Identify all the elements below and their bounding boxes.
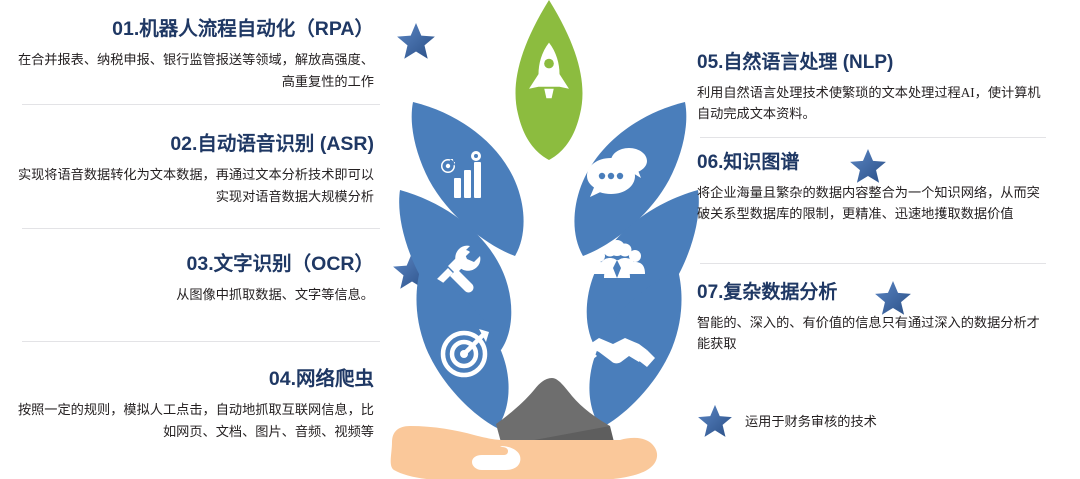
item-01-body: 在合并报表、纳税申报、银行监管报送等领域，解放高强度、高重复性的工作 bbox=[14, 49, 374, 92]
item-01-title: 机器人流程自动化（RPA） bbox=[139, 18, 374, 40]
item-02[interactable]: 02.自动语音识别 (ASR) 实现将语音数据转化为文本数据，再通过文本分析技术… bbox=[14, 133, 374, 207]
item-02-title: 自动语音识别 (ASR) bbox=[197, 133, 374, 155]
item-04[interactable]: 04.网络爬虫 按照一定的规则，模拟人工点击，自动地抓取互联网信息，比如网页、文… bbox=[14, 368, 374, 442]
item-04-body: 按照一定的规则，模拟人工点击，自动地抓取互联网信息，比如网页、文档、图片、音频、… bbox=[14, 399, 374, 442]
item-05-body: 利用自然语言处理技术使繁琐的文本处理过程AI，使计算机自动完成文本资料。 bbox=[697, 82, 1047, 125]
item-07-number: 07. bbox=[697, 282, 723, 303]
star-icon-06 bbox=[849, 148, 887, 184]
item-02-body: 实现将语音数据转化为文本数据，再通过文本分析技术即可以实现对语音数据大规模分析 bbox=[14, 164, 374, 207]
item-02-heading: 02.自动语音识别 (ASR) bbox=[14, 133, 374, 155]
item-04-heading: 04.网络爬虫 bbox=[14, 368, 374, 390]
item-06-number: 06. bbox=[697, 152, 723, 173]
tree-illustration bbox=[384, 0, 714, 479]
item-07-heading: 07.复杂数据分析 bbox=[697, 282, 1047, 304]
item-05-heading: 05.自然语言处理 (NLP) bbox=[697, 52, 1047, 74]
item-03-title: 文字识别（OCR） bbox=[214, 253, 374, 275]
item-06-body: 将企业海量且繁杂的数据内容整合为一个知识网络，从而突破关系型数据库的限制，更精准… bbox=[697, 182, 1047, 225]
item-03-body: 从图像中抓取数据、文字等信息。 bbox=[14, 284, 374, 305]
item-07-body: 智能的、深入的、有价值的信息只有通过深入的数据分析才能获取 bbox=[697, 312, 1047, 355]
divider-right-2 bbox=[700, 263, 1046, 264]
star-icon-legend bbox=[697, 404, 733, 438]
item-01[interactable]: 01.机器人流程自动化（RPA） 在合并报表、纳税申报、银行监管报送等领域，解放… bbox=[14, 18, 374, 92]
divider-left-3 bbox=[22, 341, 380, 342]
item-05[interactable]: 05.自然语言处理 (NLP) 利用自然语言处理技术使繁琐的文本处理过程AI，使… bbox=[697, 52, 1047, 125]
divider-left-2 bbox=[22, 228, 380, 229]
item-03-heading: 03.文字识别（OCR） bbox=[14, 253, 374, 275]
item-01-heading: 01.机器人流程自动化（RPA） bbox=[14, 18, 374, 40]
item-05-number: 05. bbox=[697, 52, 723, 73]
item-06-title: 知识图谱 bbox=[723, 152, 799, 173]
divider-left-1 bbox=[22, 104, 380, 105]
leaf-top-green bbox=[516, 0, 583, 160]
infographic-canvas: · · · · · · · · · · · · · · 01.机器人流程自动化（… bbox=[0, 0, 1080, 479]
item-02-number: 02. bbox=[170, 133, 197, 155]
item-03[interactable]: 03.文字识别（OCR） 从图像中抓取数据、文字等信息。 bbox=[14, 253, 374, 306]
item-03-number: 03. bbox=[187, 253, 214, 275]
legend-text: 运用于财务审核的技术 bbox=[745, 411, 877, 430]
item-05-title: 自然语言处理 (NLP) bbox=[723, 52, 893, 73]
divider-right-1 bbox=[700, 137, 1046, 138]
item-07[interactable]: 07.复杂数据分析 智能的、深入的、有价值的信息只有通过深入的数据分析才能获取 bbox=[697, 282, 1047, 355]
item-01-number: 01. bbox=[112, 18, 139, 40]
star-icon-07 bbox=[874, 280, 912, 316]
item-04-title: 网络爬虫 bbox=[296, 368, 374, 390]
item-04-number: 04. bbox=[269, 368, 296, 390]
item-07-title: 复杂数据分析 bbox=[723, 282, 837, 303]
